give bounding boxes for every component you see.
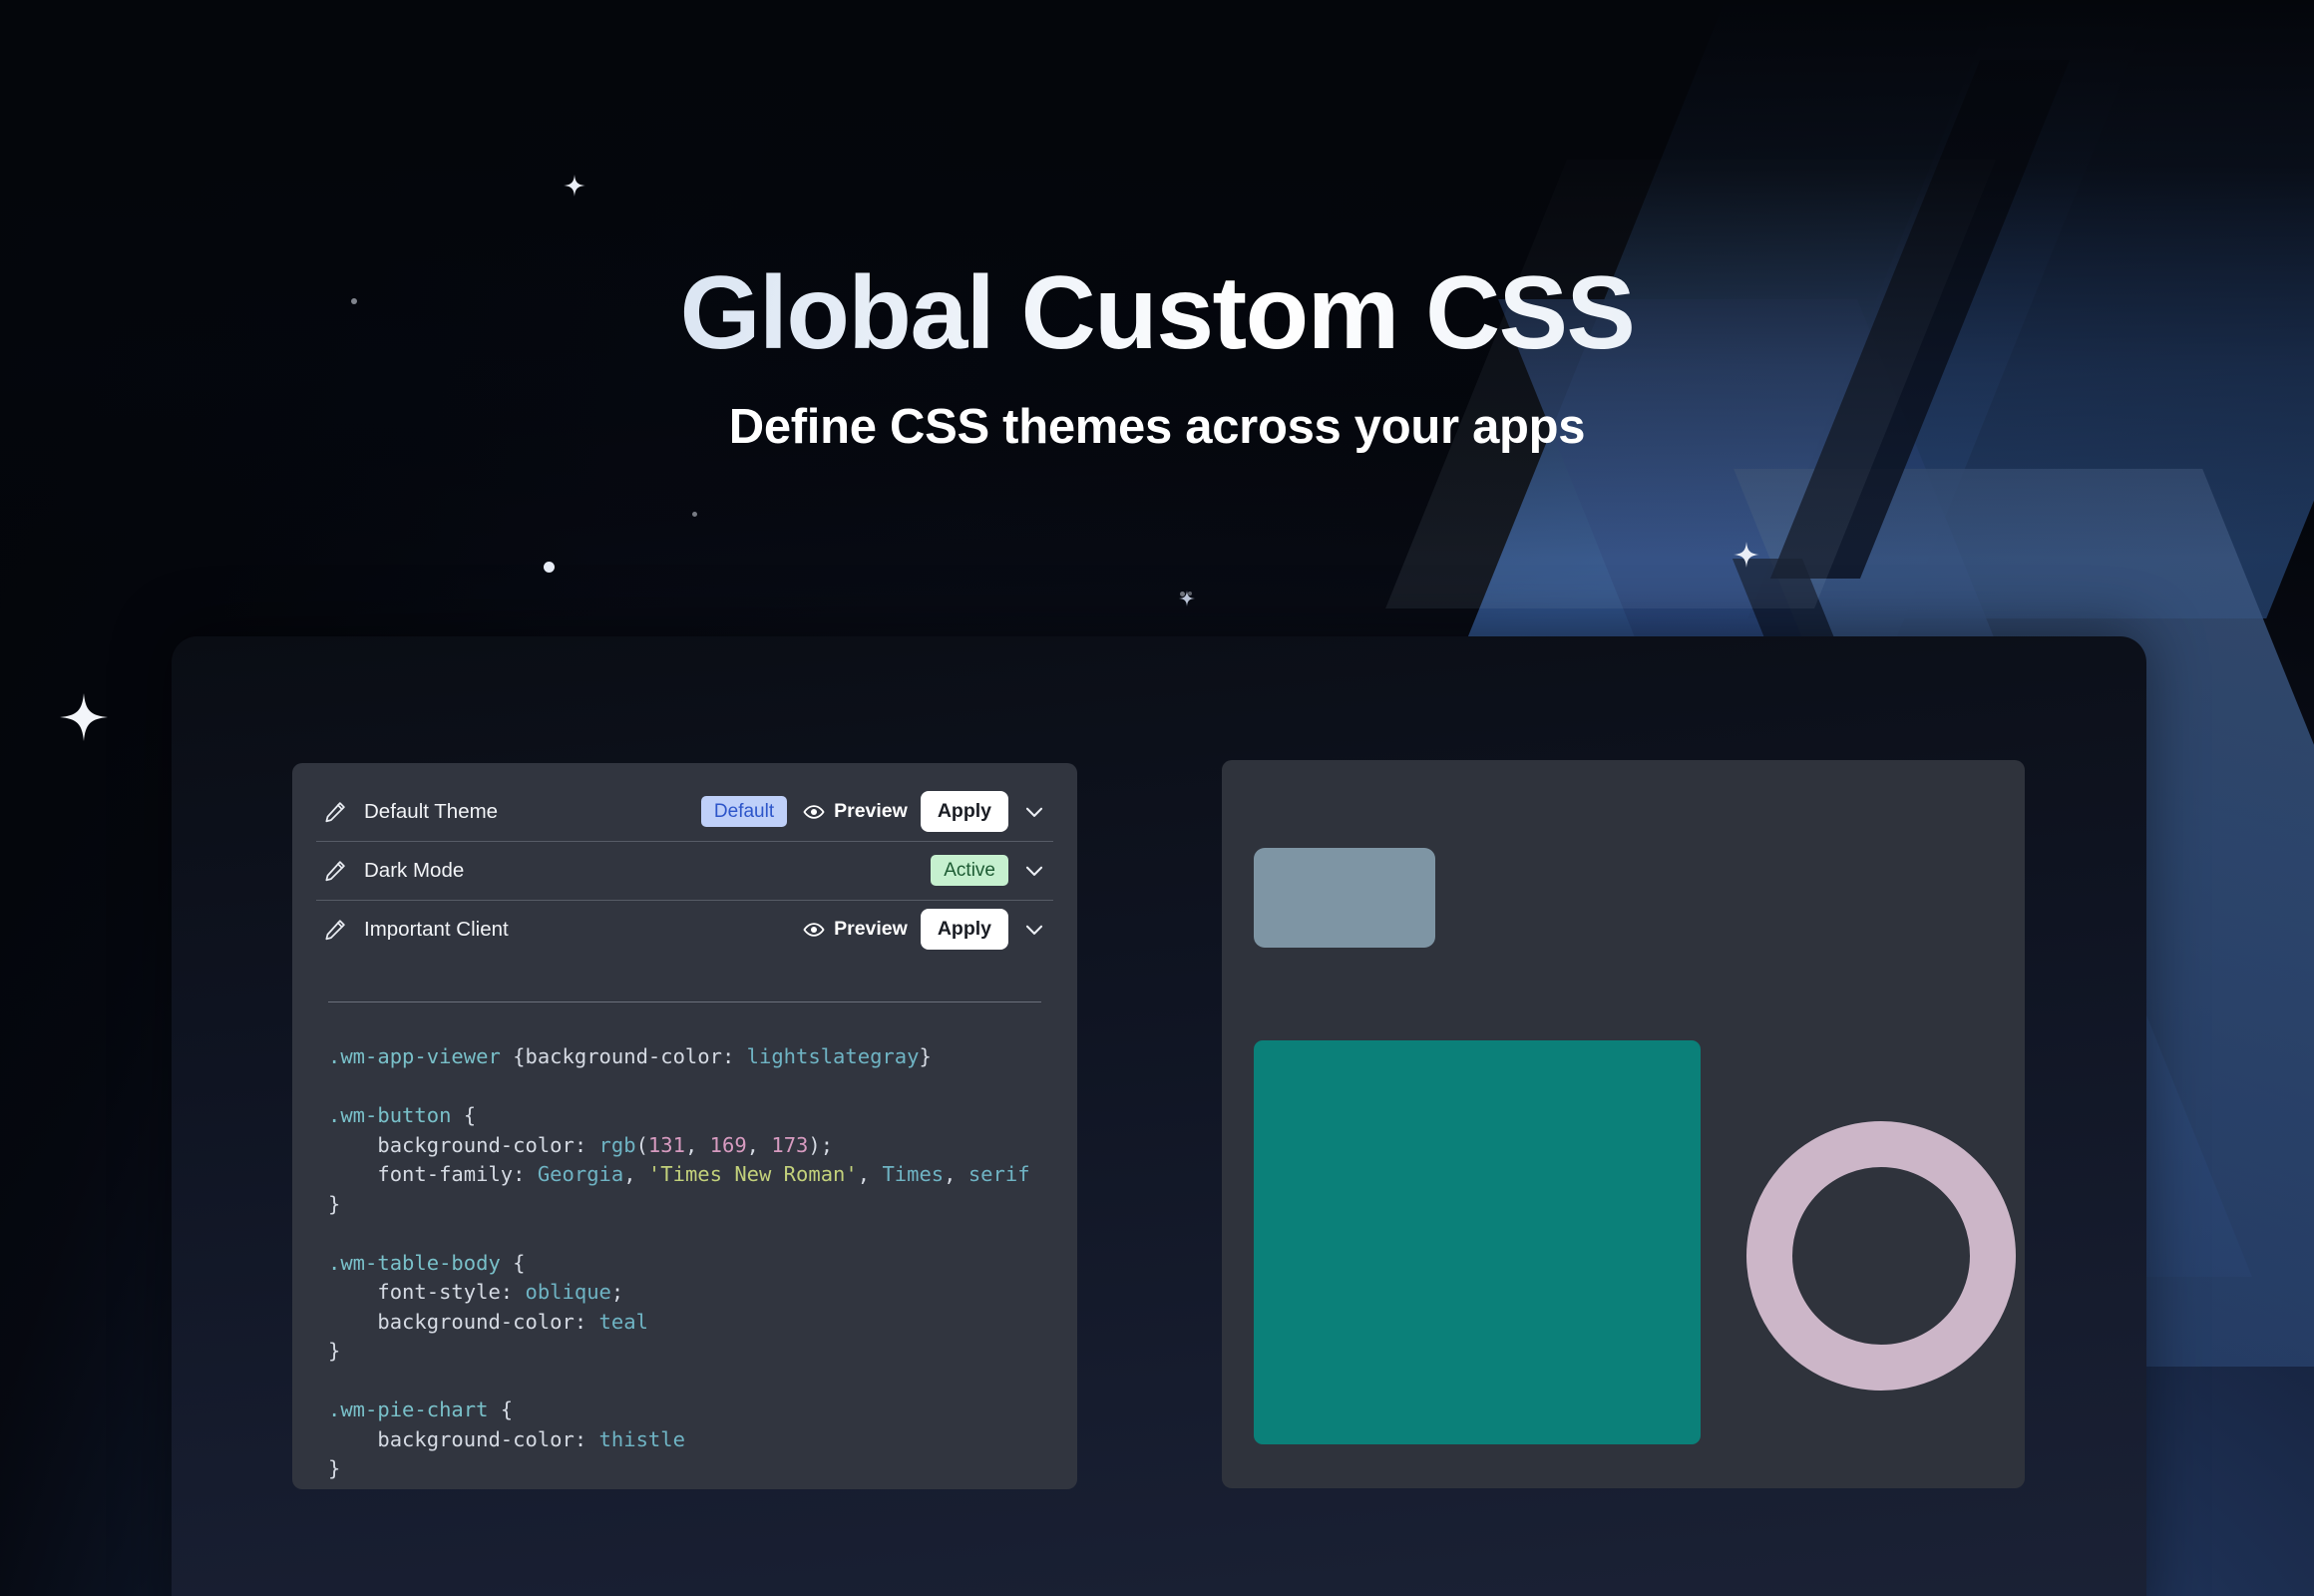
code-line: .wm-table-body { bbox=[328, 1249, 1053, 1279]
code-token: .wm-button bbox=[328, 1103, 451, 1127]
code-token: ; bbox=[611, 1280, 623, 1304]
theme-name: Default Theme bbox=[364, 800, 498, 824]
theme-preview-panel bbox=[1222, 760, 2025, 1488]
code-token: 'Times New Roman' bbox=[648, 1162, 858, 1186]
pencil-icon[interactable] bbox=[322, 799, 348, 825]
code-token: ); bbox=[808, 1133, 833, 1157]
code-line: background-color: thistle bbox=[328, 1425, 1053, 1455]
page-subtitle: Define CSS themes across your apps bbox=[0, 399, 2314, 455]
code-token: .wm-pie-chart bbox=[328, 1397, 488, 1421]
code-token bbox=[328, 1280, 377, 1304]
theme-name: Important Client bbox=[364, 918, 509, 942]
apply-button[interactable]: Apply bbox=[921, 909, 1008, 950]
code-token: { bbox=[488, 1397, 513, 1421]
divider bbox=[328, 1001, 1041, 1002]
code-token: ( bbox=[636, 1133, 648, 1157]
code-line bbox=[328, 1072, 1053, 1102]
code-token: background-color bbox=[525, 1044, 721, 1068]
code-line bbox=[328, 1219, 1053, 1249]
code-token: serif bbox=[968, 1162, 1030, 1186]
code-token: , bbox=[747, 1133, 772, 1157]
code-token: : bbox=[501, 1280, 526, 1304]
preview-sample-button bbox=[1254, 848, 1435, 948]
code-token: } bbox=[328, 1192, 340, 1216]
chevron-down-icon[interactable] bbox=[1021, 858, 1047, 884]
code-token: : bbox=[575, 1133, 599, 1157]
preview-button-label: Preview bbox=[834, 800, 908, 823]
code-line: background-color: rgb(131, 169, 173); bbox=[328, 1131, 1053, 1161]
code-token: .wm-app-viewer bbox=[328, 1044, 501, 1068]
code-line: } bbox=[328, 1337, 1053, 1367]
hero-header: Global Custom CSS Define CSS themes acro… bbox=[0, 261, 2314, 455]
code-line: } bbox=[328, 1454, 1053, 1484]
code-token: background-color bbox=[377, 1310, 574, 1334]
code-token: , bbox=[685, 1133, 710, 1157]
code-token: lightslategray bbox=[747, 1044, 920, 1068]
code-line: font-style: oblique; bbox=[328, 1278, 1053, 1308]
code-token: font-style bbox=[377, 1280, 500, 1304]
themes-panel: Default Theme Default Preview Apply bbox=[292, 763, 1077, 1489]
code-token: : bbox=[722, 1044, 747, 1068]
code-token: teal bbox=[599, 1310, 648, 1334]
preview-sample-table bbox=[1254, 1040, 1701, 1444]
pencil-icon[interactable] bbox=[322, 917, 348, 943]
chevron-down-icon[interactable] bbox=[1021, 799, 1047, 825]
code-token: background-color bbox=[377, 1133, 574, 1157]
code-token: 131 bbox=[648, 1133, 685, 1157]
code-line: background-color: teal bbox=[328, 1308, 1053, 1338]
theme-row[interactable]: Important Client Preview Apply bbox=[316, 900, 1053, 959]
code-token: { bbox=[501, 1044, 526, 1068]
code-token: 173 bbox=[771, 1133, 808, 1157]
apply-button[interactable]: Apply bbox=[921, 791, 1008, 832]
code-line: .wm-app-viewer {background-color: lights… bbox=[328, 1042, 1053, 1072]
theme-row[interactable]: Dark Mode Active bbox=[316, 841, 1053, 900]
code-token bbox=[328, 1310, 377, 1334]
code-token: oblique bbox=[525, 1280, 610, 1304]
code-token: } bbox=[919, 1044, 931, 1068]
code-token: Georgia bbox=[538, 1162, 623, 1186]
code-token: rgb bbox=[599, 1133, 636, 1157]
code-token: , bbox=[623, 1162, 648, 1186]
code-token: , bbox=[858, 1162, 883, 1186]
code-token bbox=[328, 1427, 377, 1451]
code-line: .wm-pie-chart { bbox=[328, 1396, 1053, 1425]
pencil-icon[interactable] bbox=[322, 858, 348, 884]
page-title: Global Custom CSS bbox=[0, 261, 2314, 365]
preview-button[interactable]: Preview bbox=[803, 918, 908, 941]
eye-icon bbox=[803, 919, 825, 941]
code-token: : bbox=[575, 1310, 599, 1334]
code-line: .wm-button { bbox=[328, 1101, 1053, 1131]
code-line: } bbox=[328, 1190, 1053, 1220]
code-token: { bbox=[501, 1251, 526, 1275]
code-token bbox=[328, 1133, 377, 1157]
code-line bbox=[328, 1367, 1053, 1396]
code-token: .wm-table-body bbox=[328, 1251, 501, 1275]
theme-name: Dark Mode bbox=[364, 859, 464, 883]
code-line: font-family: Georgia, 'Times New Roman',… bbox=[328, 1160, 1053, 1190]
css-code-editor[interactable]: .wm-app-viewer {background-color: lights… bbox=[328, 1042, 1053, 1484]
code-token bbox=[328, 1162, 377, 1186]
code-token: Times bbox=[882, 1162, 944, 1186]
preview-sample-pie-chart bbox=[1746, 1121, 2016, 1391]
code-token: font-family bbox=[377, 1162, 513, 1186]
preview-button[interactable]: Preview bbox=[803, 800, 908, 823]
chevron-down-icon[interactable] bbox=[1021, 917, 1047, 943]
code-token: 169 bbox=[710, 1133, 747, 1157]
status-badge: Default bbox=[701, 796, 787, 827]
code-token: } bbox=[328, 1456, 340, 1480]
status-badge: Active bbox=[931, 855, 1008, 886]
eye-icon bbox=[803, 801, 825, 823]
code-token: : bbox=[575, 1427, 599, 1451]
code-token: } bbox=[328, 1339, 340, 1363]
code-token: thistle bbox=[599, 1427, 685, 1451]
code-token: : bbox=[513, 1162, 538, 1186]
code-token: background-color bbox=[377, 1427, 574, 1451]
code-token: , bbox=[944, 1162, 968, 1186]
page-root: Global Custom CSS Define CSS themes acro… bbox=[0, 0, 2314, 1596]
code-token: { bbox=[451, 1103, 476, 1127]
preview-button-label: Preview bbox=[834, 918, 908, 941]
theme-row[interactable]: Default Theme Default Preview Apply bbox=[316, 782, 1053, 841]
